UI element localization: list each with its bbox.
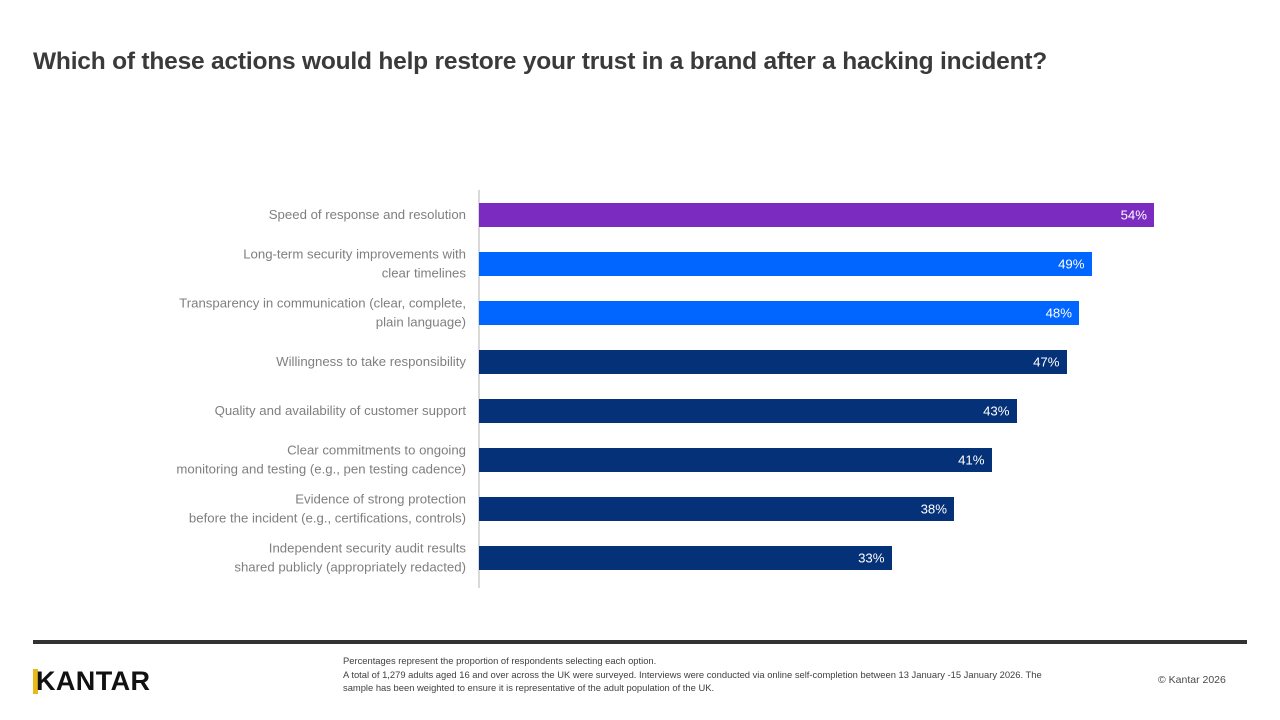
bar-track: 54% [479,203,1154,227]
bar-row: Transparency in communication (clear, co… [0,288,1280,337]
bar-value-label: 38% [921,502,947,515]
bar-track: 41% [479,448,992,472]
bar-row: Evidence of strong protection before the… [0,484,1280,533]
footnote: Percentages represent the proportion of … [343,654,1073,695]
bar-category-label: Transparency in communication (clear, co… [46,293,466,332]
bar-row: Speed of response and resolution54% [0,190,1280,239]
bar-value-label: 49% [1058,257,1084,270]
bar-row: Clear commitments to ongoing monitoring … [0,435,1280,484]
bar-category-label: Long-term security improvements with cle… [46,244,466,283]
bar-track: 38% [479,497,954,521]
bar[interactable]: 49% [479,252,1092,276]
footer-divider [33,640,1247,644]
bar[interactable]: 33% [479,546,892,570]
bar-value-label: 43% [983,404,1009,417]
copyright-text: © Kantar 2026 [1158,674,1226,686]
bar[interactable]: 47% [479,350,1067,374]
bar-row: Independent security audit results share… [0,533,1280,582]
bar-value-label: 41% [958,453,984,466]
bar[interactable]: 48% [479,301,1079,325]
bar-track: 49% [479,252,1092,276]
bar-category-label: Willingness to take responsibility [46,352,466,372]
bar-category-label: Independent security audit results share… [46,538,466,577]
bar-track: 33% [479,546,892,570]
bar-value-label: 47% [1033,355,1059,368]
bar-track: 48% [479,301,1079,325]
footnote-line-1: Percentages represent the proportion of … [343,654,1073,668]
bar[interactable]: 54% [479,203,1154,227]
bar-row: Willingness to take responsibility47% [0,337,1280,386]
kantar-logo: KANTAR [33,668,150,695]
bar-value-label: 33% [858,551,884,564]
bar-track: 47% [479,350,1067,374]
bar-value-label: 48% [1046,306,1072,319]
footnote-line-2: A total of 1,279 adults aged 16 and over… [343,668,1073,695]
bar-value-label: 54% [1121,208,1147,221]
bar-row: Long-term security improvements with cle… [0,239,1280,288]
bar-track: 43% [479,399,1017,423]
bar-category-label: Clear commitments to ongoing monitoring … [46,440,466,479]
bar[interactable]: 38% [479,497,954,521]
bar[interactable]: 43% [479,399,1017,423]
logo-wordmark: KANTAR [36,668,150,695]
bar[interactable]: 41% [479,448,992,472]
bar-category-label: Quality and availability of customer sup… [46,401,466,421]
bar-category-label: Evidence of strong protection before the… [46,489,466,528]
bar-row: Quality and availability of customer sup… [0,386,1280,435]
bar-chart: Speed of response and resolution54%Long-… [0,0,1280,620]
bar-rows: Speed of response and resolution54%Long-… [0,190,1280,582]
bar-category-label: Speed of response and resolution [46,205,466,225]
